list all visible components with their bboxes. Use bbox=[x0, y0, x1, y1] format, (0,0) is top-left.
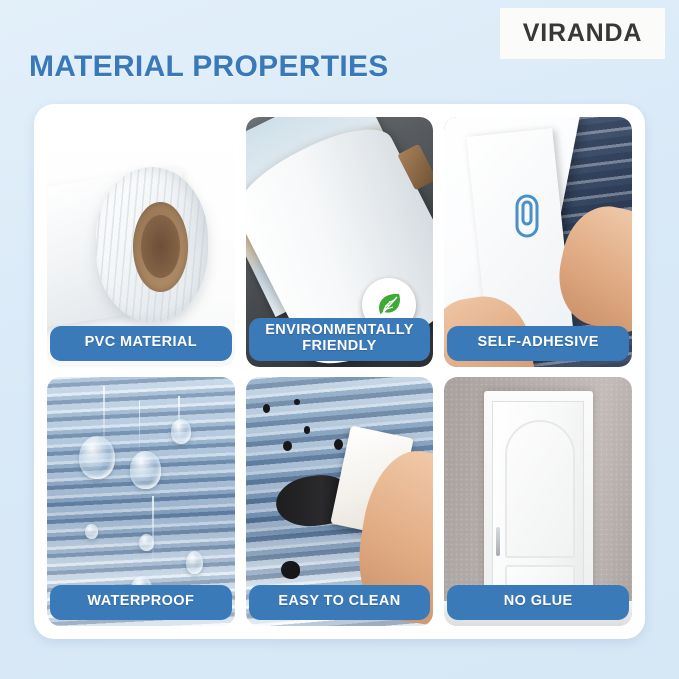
feature-card-self-adhesive[interactable]: SELF-ADHESIVE bbox=[444, 117, 632, 367]
feature-card-easy-to-clean[interactable]: EASY TO CLEAN bbox=[246, 377, 434, 627]
feature-card-waterproof[interactable]: WATERPROOF bbox=[47, 377, 235, 627]
infographic-page: VIRANDA MATERIAL PROPERTIES PVC MATERIAL bbox=[0, 0, 679, 679]
feature-label-line2: FRIENDLY bbox=[253, 339, 427, 355]
features-panel: PVC MATERIAL bbox=[34, 104, 645, 639]
feature-label-line1: ENVIRONMENTALLY bbox=[253, 323, 427, 339]
feature-label-pvc-material: PVC MATERIAL bbox=[50, 326, 232, 361]
feature-label-environmentally-friendly: ENVIRONMENTALLY FRIENDLY bbox=[249, 318, 431, 361]
paperclip-icon bbox=[512, 192, 542, 240]
feature-label-no-glue: NO GLUE bbox=[447, 585, 629, 620]
feature-card-pvc-material[interactable]: PVC MATERIAL bbox=[47, 117, 235, 367]
feature-label-self-adhesive: SELF-ADHESIVE bbox=[447, 326, 629, 361]
page-title: MATERIAL PROPERTIES bbox=[29, 50, 389, 84]
feature-card-environmentally-friendly[interactable]: ENVIRONMENTALLY FRIENDLY bbox=[246, 117, 434, 367]
features-grid: PVC MATERIAL bbox=[34, 104, 645, 639]
brand-name: VIRANDA bbox=[523, 19, 643, 48]
feature-label-waterproof: WATERPROOF bbox=[50, 585, 232, 620]
feature-label-easy-to-clean: EASY TO CLEAN bbox=[249, 585, 431, 620]
brand-logo: VIRANDA bbox=[500, 8, 665, 59]
feature-card-no-glue[interactable]: NO GLUE bbox=[444, 377, 632, 627]
